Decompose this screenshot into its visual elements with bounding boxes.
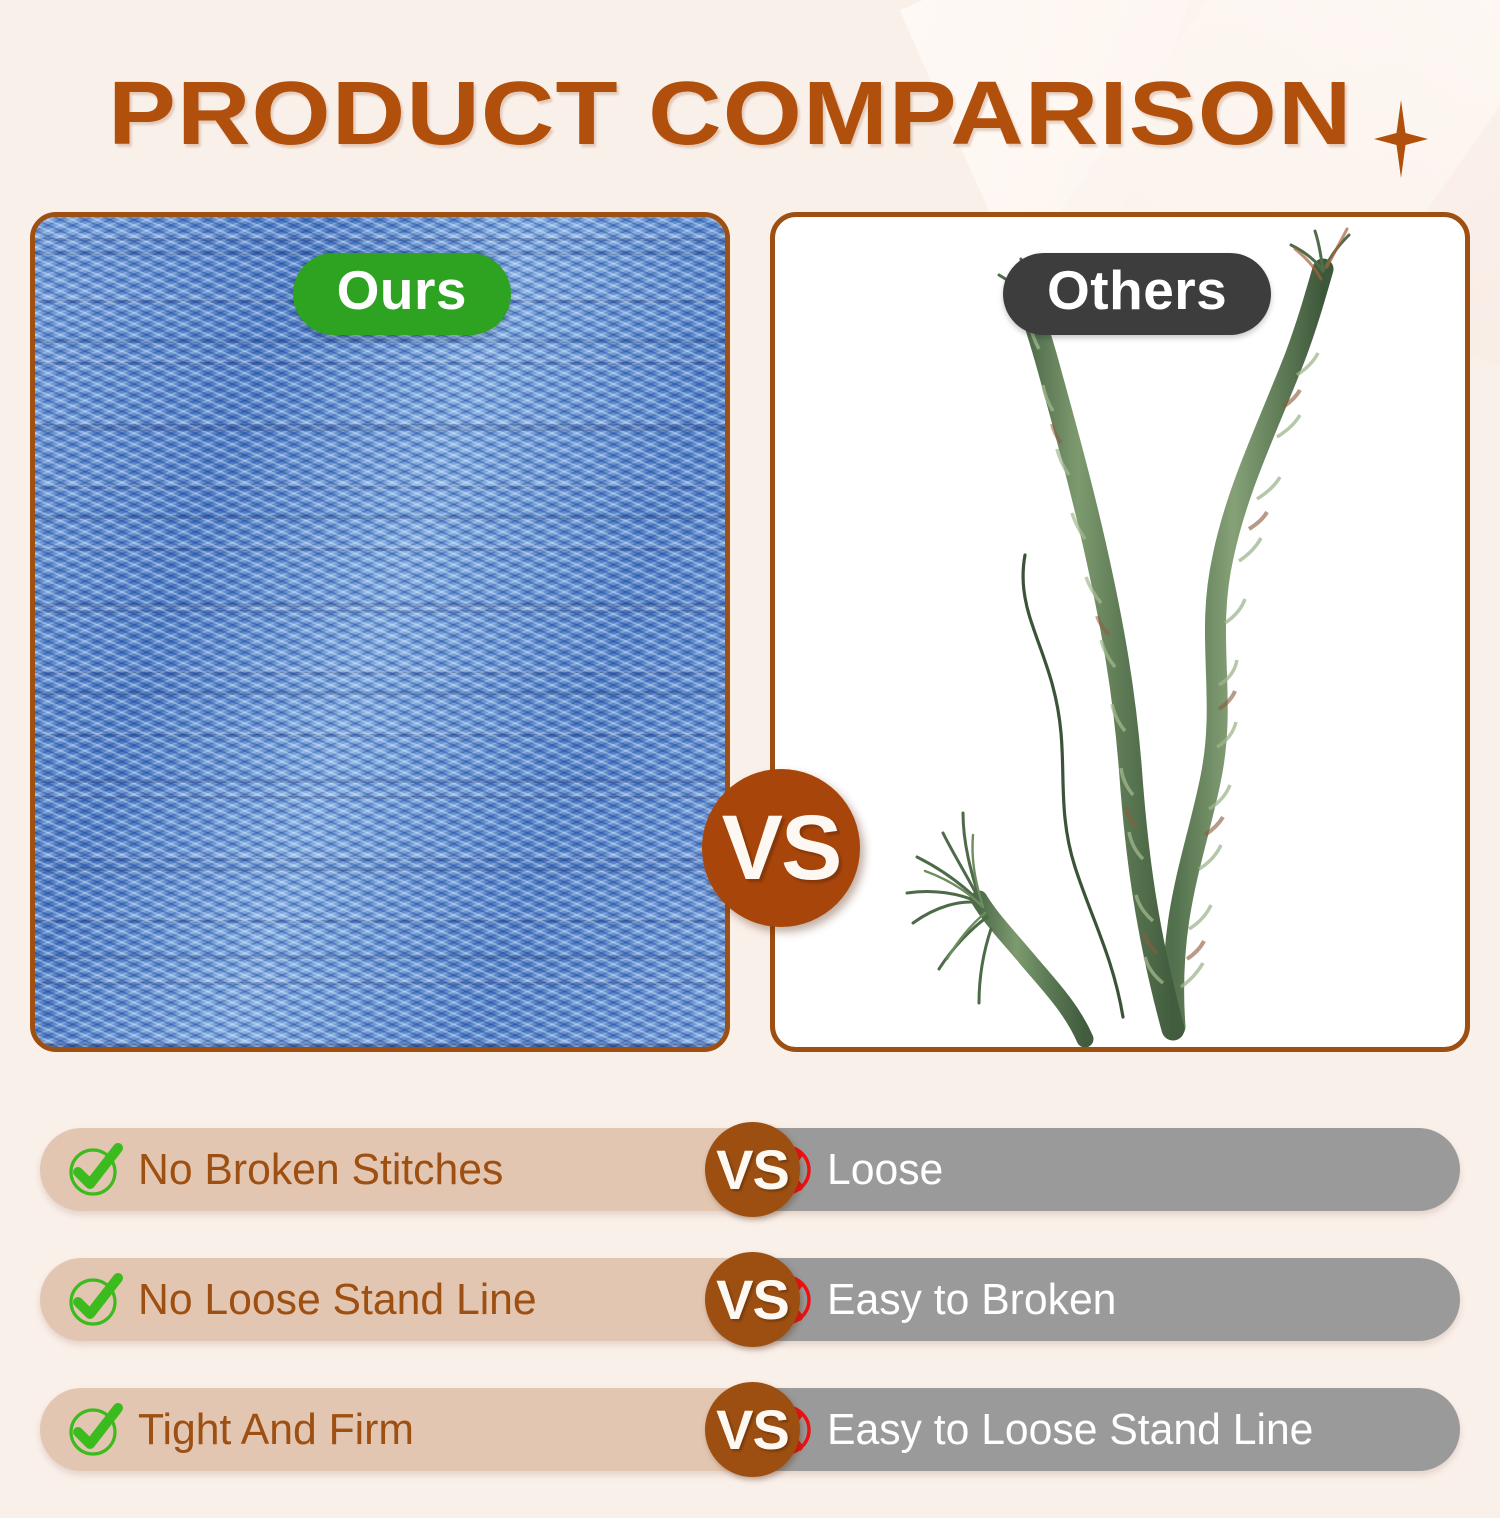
badge-ours: Ours xyxy=(293,253,511,335)
sparkle-icon xyxy=(1374,100,1428,178)
check-icon xyxy=(66,1401,124,1459)
pro-pill: Tight And Firm xyxy=(40,1388,765,1471)
con-pill: Easy to Broken xyxy=(735,1258,1460,1341)
con-label: Easy to Loose Stand Line xyxy=(827,1405,1313,1455)
check-icon xyxy=(66,1141,124,1199)
check-icon xyxy=(66,1271,124,1329)
versus-badge-row: VS xyxy=(705,1122,800,1217)
comparison-row: No Loose Stand Line Easy to Broken VS xyxy=(0,1258,1500,1341)
feature-comparison-list: No Broken Stitches Loose VS No Loose Sta… xyxy=(0,1128,1500,1518)
panel-others: Others xyxy=(770,212,1470,1052)
page-title: PRODUCT COMPARISON xyxy=(108,62,1353,167)
panel-ours: Ours xyxy=(30,212,730,1052)
pro-label: No Broken Stitches xyxy=(138,1145,503,1195)
versus-badge-row: VS xyxy=(705,1252,800,1347)
con-pill: Easy to Loose Stand Line xyxy=(735,1388,1460,1471)
badge-others: Others xyxy=(1003,253,1271,335)
comparison-row: No Broken Stitches Loose VS xyxy=(0,1128,1500,1211)
con-label: Loose xyxy=(827,1145,943,1195)
versus-badge-row: VS xyxy=(705,1382,800,1477)
comparison-row: Tight And Firm Easy to Loose Stand Line … xyxy=(0,1388,1500,1471)
header: PRODUCT COMPARISON xyxy=(0,62,1500,172)
versus-badge-main: VS xyxy=(702,769,860,927)
blue-thread-texture xyxy=(35,217,725,1047)
con-label: Easy to Broken xyxy=(827,1275,1116,1325)
con-pill: Loose xyxy=(735,1128,1460,1211)
product-image-comparison: Ours xyxy=(30,212,1470,1052)
pro-label: No Loose Stand Line xyxy=(138,1275,537,1325)
pro-label: Tight And Firm xyxy=(138,1405,414,1455)
pro-pill: No Broken Stitches xyxy=(40,1128,765,1211)
frayed-rope-illustration xyxy=(775,217,1465,1047)
pro-pill: No Loose Stand Line xyxy=(40,1258,765,1341)
